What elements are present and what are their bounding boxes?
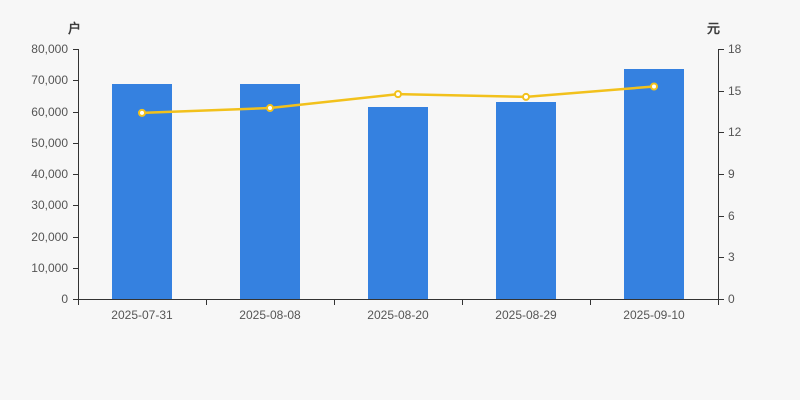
left-axis-tick [73, 49, 78, 50]
right-axis-unit-label: 元 [707, 18, 720, 37]
right-axis-tick [719, 91, 724, 92]
x-axis-category-label: 2025-09-10 [623, 308, 684, 322]
right-axis-tick [719, 132, 724, 133]
x-axis-tick [590, 300, 591, 305]
x-axis-category-label: 2025-08-29 [495, 308, 556, 322]
right-axis-tick [719, 49, 724, 50]
left-axis-tick-label: 20,000 [31, 231, 68, 243]
chart-container: 户 元 010,00020,00030,00040,00050,00060,00… [0, 0, 800, 400]
left-axis-tick [73, 174, 78, 175]
bar[interactable] [240, 84, 300, 299]
x-axis-category-label: 2025-08-20 [367, 308, 428, 322]
bar[interactable] [496, 102, 556, 299]
x-axis-tick [78, 300, 79, 305]
left-axis-tick-label: 50,000 [31, 137, 68, 149]
left-axis-tick-label: 60,000 [31, 106, 68, 118]
x-axis-line [78, 299, 719, 300]
right-axis-tick-label: 6 [728, 210, 735, 222]
right-axis-tick-label: 3 [728, 251, 735, 263]
left-axis-tick [73, 112, 78, 113]
right-axis-tick-label: 18 [728, 43, 741, 55]
right-axis-tick-label: 9 [728, 168, 735, 180]
left-axis-tick [73, 205, 78, 206]
left-axis-tick-label: 30,000 [31, 199, 68, 211]
line-marker[interactable] [395, 91, 401, 97]
right-axis-tick [719, 257, 724, 258]
left-axis-tick-label: 10,000 [31, 262, 68, 274]
right-axis-tick [719, 216, 724, 217]
left-axis-tick-label: 0 [61, 293, 68, 305]
left-axis-tick-label: 40,000 [31, 168, 68, 180]
x-axis-tick [334, 300, 335, 305]
left-axis-line [78, 49, 79, 300]
left-axis-tick-label: 70,000 [31, 74, 68, 86]
x-axis-tick [718, 300, 719, 305]
x-axis-tick [462, 300, 463, 305]
x-axis-category-label: 2025-08-08 [239, 308, 300, 322]
x-axis-category-label: 2025-07-31 [111, 308, 172, 322]
line-marker[interactable] [523, 94, 529, 100]
right-axis-tick-label: 15 [728, 85, 741, 97]
right-axis-tick-label: 0 [728, 293, 735, 305]
right-axis-tick [719, 174, 724, 175]
bar[interactable] [112, 84, 172, 299]
x-axis-tick [206, 300, 207, 305]
right-axis-tick-label: 12 [728, 126, 741, 138]
left-axis-unit-label: 户 [68, 18, 81, 37]
left-axis-tick [73, 143, 78, 144]
left-axis-tick [73, 80, 78, 81]
left-axis-tick-label: 80,000 [31, 43, 68, 55]
left-axis-tick [73, 268, 78, 269]
bar[interactable] [368, 107, 428, 299]
bar[interactable] [624, 69, 684, 299]
left-axis-tick [73, 237, 78, 238]
right-axis-tick [719, 299, 724, 300]
